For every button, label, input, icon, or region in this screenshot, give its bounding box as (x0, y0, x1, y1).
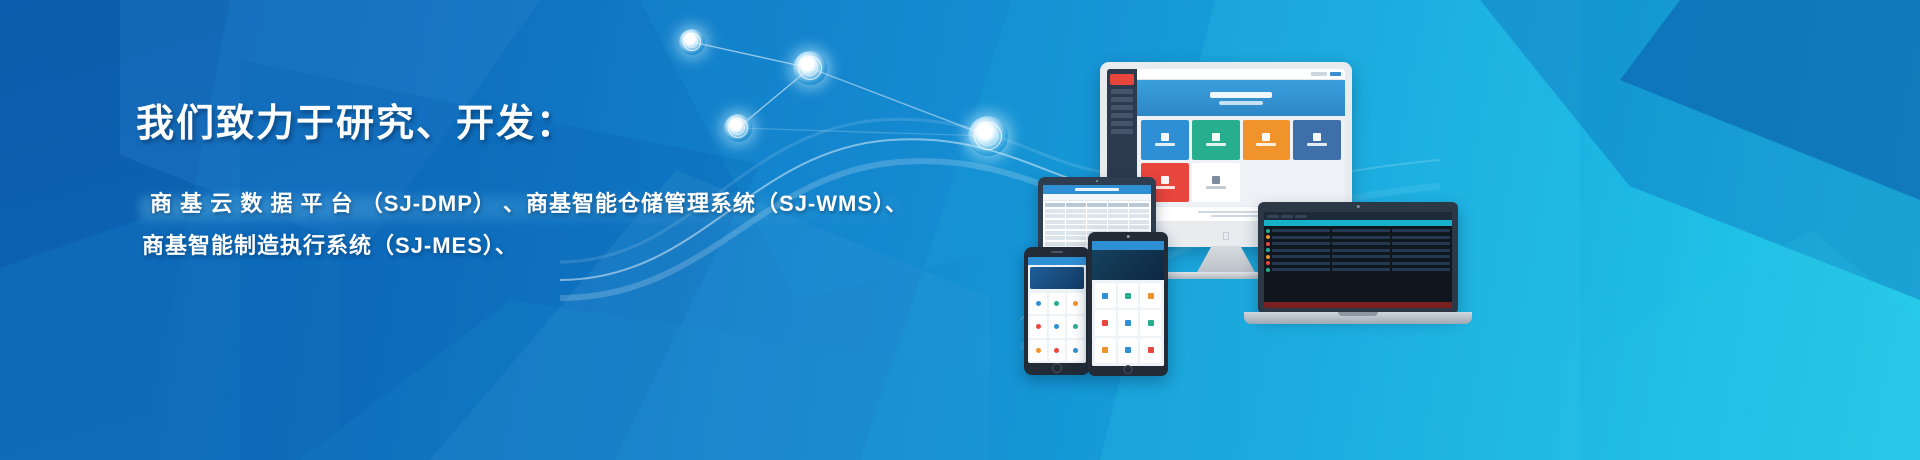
dashboard-topbar (1137, 69, 1345, 80)
mes-monitor-ui (1264, 212, 1452, 308)
mobile-app-icon[interactable] (1030, 340, 1047, 361)
table-cell (1045, 236, 1065, 240)
table-cell (1108, 209, 1128, 213)
table-cell (1087, 214, 1107, 218)
app-glyph-icon (1073, 301, 1078, 306)
topbar-account-button[interactable] (1330, 72, 1341, 76)
banner-subline-2: 商基智能制造执行系统（SJ-MES）、 (142, 228, 518, 260)
tablet-portrait-screen (1092, 241, 1164, 366)
mes-cell (1272, 236, 1331, 239)
mes-cell (1332, 229, 1391, 232)
tablet-app-icon[interactable] (1140, 283, 1161, 308)
tablet-portrait-mockup (1088, 232, 1168, 376)
tablet-app-icon[interactable] (1118, 283, 1139, 308)
table-cell (1045, 220, 1065, 224)
app-glyph-icon (1102, 347, 1108, 353)
mobile-hero-banner (1030, 267, 1084, 289)
sidebar-item-home[interactable] (1111, 89, 1133, 94)
tile-label (1155, 143, 1175, 146)
status-dot-icon (1266, 235, 1270, 239)
table-cell (1066, 242, 1086, 246)
tablet-statusbar (1092, 241, 1164, 250)
app-glyph-icon (1036, 324, 1041, 329)
camera-icon (1127, 235, 1130, 238)
app-glyph-icon (1073, 348, 1078, 353)
table-cell (1108, 214, 1128, 218)
table-titlebar (1043, 185, 1151, 194)
mes-table-row[interactable] (1266, 267, 1450, 272)
tile-label (1206, 143, 1226, 146)
banner-headline: 我们致力于研究、开发： (136, 92, 576, 147)
mes-table-body (1264, 226, 1452, 302)
app-glyph-icon (1148, 293, 1154, 299)
mobile-app-grid (1028, 291, 1086, 363)
mes-cell (1272, 249, 1331, 252)
background-facet-10 (1560, 230, 1920, 460)
mes-cell (1272, 262, 1331, 265)
mes-cell (1332, 242, 1391, 245)
app-glyph-icon (1054, 301, 1059, 306)
mes-menu-item[interactable] (1281, 215, 1293, 218)
app-glyph-icon (1125, 320, 1131, 326)
mes-table-row[interactable] (1266, 248, 1450, 253)
mes-cell (1392, 262, 1451, 265)
mes-cell (1272, 268, 1331, 271)
mes-cell (1272, 242, 1331, 245)
tablet-app-icon[interactable] (1095, 338, 1116, 363)
dashboard-hero-title (1210, 92, 1272, 98)
table-cell (1108, 225, 1128, 229)
table-cell (1045, 225, 1065, 229)
mobile-app-icon[interactable] (1067, 340, 1084, 361)
tablet-app-icon[interactable] (1095, 283, 1116, 308)
mes-cell (1332, 262, 1391, 265)
app-glyph-icon (1073, 324, 1078, 329)
app-glyph-icon (1036, 348, 1041, 353)
dashboard-hero-subtitle (1219, 101, 1263, 105)
dashboard-tile-grid (1137, 116, 1345, 206)
mes-cell (1392, 236, 1451, 239)
imac-stand (1196, 246, 1256, 274)
dashboard-tile-business[interactable] (1192, 120, 1240, 160)
mobile-app-icon[interactable] (1030, 293, 1047, 314)
table-cell (1066, 231, 1086, 235)
dashboard-tile-user[interactable] (1293, 120, 1341, 160)
tablet-hero-banner (1092, 250, 1164, 280)
table-cell (1087, 220, 1107, 224)
app-glyph-icon (1125, 293, 1131, 299)
background-facet-9 (1620, 0, 1920, 200)
background-facet-8 (1480, 0, 1920, 300)
apple-logo-icon:  (1222, 232, 1230, 243)
chart-icon (1212, 133, 1220, 141)
status-dot-icon (1266, 261, 1270, 265)
banner-subline-1: 商 基 云 数 据 平 台 （SJ-DMP） 、商基智能仓储管理系统（SJ-WM… (150, 186, 908, 218)
sidebar-item-reports[interactable] (1111, 121, 1133, 126)
mes-menu-item[interactable] (1295, 215, 1307, 218)
camera-icon (1096, 180, 1098, 182)
table-cell (1087, 203, 1107, 207)
table-cell (1066, 209, 1086, 213)
tablet-app-grid (1092, 280, 1164, 366)
table-cell (1087, 209, 1107, 213)
home-button-icon[interactable] (1124, 365, 1133, 374)
tablet-app-icon[interactable] (1140, 338, 1161, 363)
tablet-app-icon[interactable] (1095, 310, 1116, 335)
table-row[interactable] (1045, 225, 1149, 229)
app-glyph-icon (1125, 347, 1131, 353)
sidebar-item-orders[interactable] (1111, 97, 1133, 102)
home-button-icon[interactable] (1052, 363, 1062, 373)
mes-cell (1392, 229, 1451, 232)
status-dot-icon (1266, 248, 1270, 252)
mobile-app-ui (1028, 257, 1086, 363)
sidebar-item-inventory[interactable] (1111, 105, 1133, 110)
table-cell (1129, 203, 1149, 207)
mobile-app-icon[interactable] (1067, 293, 1084, 314)
table-cell (1066, 220, 1086, 224)
table-cell (1045, 209, 1065, 213)
table-cell (1108, 220, 1128, 224)
box-icon (1262, 133, 1270, 141)
mobile-statusbar (1028, 257, 1086, 265)
table-cell (1129, 225, 1149, 229)
table-cell (1129, 214, 1149, 218)
table-cell (1087, 225, 1107, 229)
sidebar-item-settings[interactable] (1111, 129, 1133, 134)
dashboard-hero (1137, 80, 1345, 116)
laptop-mockup (1258, 202, 1458, 332)
mes-cell (1392, 255, 1451, 258)
mes-cell (1272, 229, 1331, 232)
mes-cell (1272, 255, 1331, 258)
tile-label (1256, 143, 1276, 146)
tile-label (1155, 186, 1175, 189)
smartphone-mockup (1024, 247, 1090, 375)
table-cell (1045, 214, 1065, 218)
mes-table-row[interactable] (1266, 254, 1450, 259)
mail-icon (1161, 176, 1169, 184)
dashboard-brand-logo (1110, 74, 1134, 85)
laptop-lid (1258, 202, 1458, 314)
mobile-app-icon[interactable] (1067, 316, 1084, 337)
tablet-workbench-ui (1092, 241, 1164, 366)
dashboard-tile-settings[interactable] (1192, 163, 1240, 203)
earpiece-icon (1051, 251, 1063, 253)
table-header-row (1045, 203, 1149, 207)
mes-table-row[interactable] (1266, 261, 1450, 266)
table-cell (1066, 236, 1086, 240)
mes-cell (1332, 268, 1391, 271)
mes-table-row[interactable] (1266, 235, 1450, 240)
status-dot-icon (1266, 229, 1270, 233)
mes-cell (1392, 249, 1451, 252)
mes-menu-item[interactable] (1267, 215, 1279, 218)
table-cell (1066, 203, 1086, 207)
table-toolbar[interactable] (1043, 194, 1151, 201)
hero-banner: 我们致力于研究、开发： 商 基 云 数 据 平 台 （SJ-DMP） 、商基智能… (0, 0, 1920, 460)
table-cell (1129, 220, 1149, 224)
table-row[interactable] (1045, 220, 1149, 224)
app-glyph-icon (1102, 293, 1108, 299)
tablet-app-icon[interactable] (1118, 338, 1139, 363)
tablet-app-icon[interactable] (1118, 310, 1139, 335)
sidebar-item-production[interactable] (1111, 113, 1133, 118)
table-cell (1066, 214, 1086, 218)
mes-cell (1392, 242, 1451, 245)
phone-screen (1028, 257, 1086, 363)
app-glyph-icon (1054, 348, 1059, 353)
table-title (1075, 188, 1119, 191)
table-cell (1066, 225, 1086, 229)
table-row[interactable] (1045, 214, 1149, 218)
table-cell (1045, 203, 1065, 207)
mobile-app-icon[interactable] (1030, 316, 1047, 337)
mes-status-bar (1264, 302, 1452, 308)
gear-icon (1212, 176, 1220, 184)
status-dot-icon (1266, 255, 1270, 259)
laptop-notch (1338, 312, 1378, 316)
laptop-screen (1264, 212, 1452, 308)
app-glyph-icon (1102, 320, 1108, 326)
user-icon (1313, 133, 1321, 141)
table-cell (1108, 203, 1128, 207)
mes-titlebar (1264, 212, 1452, 220)
app-glyph-icon (1036, 301, 1041, 306)
camera-icon (1357, 205, 1360, 208)
device-mockup-group:  (1010, 32, 1510, 362)
app-glyph-icon (1148, 347, 1154, 353)
table-cell (1129, 209, 1149, 213)
tablet-app-icon[interactable] (1140, 310, 1161, 335)
monitor-icon (1161, 133, 1169, 141)
mes-cell (1332, 249, 1391, 252)
tile-label (1307, 143, 1327, 146)
mes-table-row[interactable] (1266, 228, 1450, 233)
dashboard-main (1137, 69, 1345, 221)
mobile-app-icon[interactable] (1049, 316, 1066, 337)
mobile-app-icon[interactable] (1049, 293, 1066, 314)
status-dot-icon (1266, 268, 1270, 272)
topbar-search-box[interactable] (1311, 72, 1327, 76)
app-glyph-icon (1054, 324, 1059, 329)
table-row[interactable] (1045, 209, 1149, 213)
mes-table-row[interactable] (1266, 241, 1450, 246)
mobile-app-icon[interactable] (1049, 340, 1066, 361)
dashboard-tile-reports[interactable] (1243, 120, 1291, 160)
mes-cell (1392, 268, 1451, 271)
status-dot-icon (1266, 242, 1270, 246)
table-cell (1045, 231, 1065, 235)
mes-cell (1332, 236, 1391, 239)
dashboard-tile-enterprise[interactable] (1141, 120, 1189, 160)
mes-cell (1332, 255, 1391, 258)
banner-copy: 我们致力于研究、开发： 商 基 云 数 据 平 台 （SJ-DMP） 、商基智能… (0, 0, 980, 460)
table-cell (1045, 242, 1065, 246)
app-glyph-icon (1148, 320, 1154, 326)
tile-label (1206, 186, 1226, 189)
